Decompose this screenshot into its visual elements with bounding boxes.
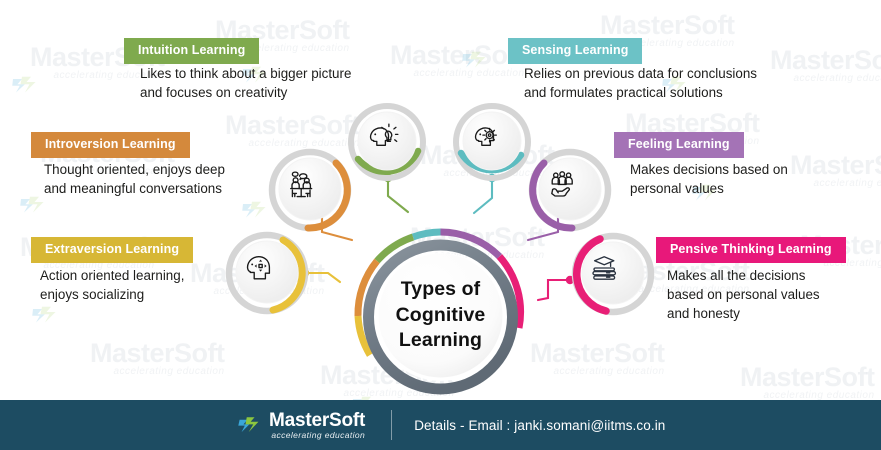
desc-extraversion: Action oriented learning, enjoys sociali… <box>40 266 255 304</box>
watermark-logo-icon <box>30 300 60 330</box>
footer-details-email: Details - Email : janki.somani@iitms.co.… <box>414 418 665 433</box>
node-feeling[interactable] <box>528 148 612 232</box>
footer-brand: MasterSoft accelerating education <box>269 411 365 440</box>
badge-extraversion: Extraversion Learning <box>31 237 193 263</box>
infographic-canvas: MasterSoftaccelerating education MasterS… <box>0 0 881 450</box>
watermark-logo-icon <box>240 195 270 225</box>
badge-sensing: Sensing Learning <box>508 38 642 64</box>
node-pensive[interactable] <box>570 231 656 317</box>
desc-introversion: Thought oriented, enjoys deep and meanin… <box>44 160 284 198</box>
watermark-text: MasterSoftaccelerating education <box>740 362 875 401</box>
badge-intuition: Intuition Learning <box>124 38 259 64</box>
footer-divider <box>391 410 392 440</box>
badge-feeling: Feeling Learning <box>614 132 744 158</box>
connector-extraversion <box>305 273 340 282</box>
connector-sensing <box>474 178 492 213</box>
watermark-text: MasterSoftaccelerating education <box>90 338 225 377</box>
watermark-logo-icon <box>460 45 490 75</box>
desc-feeling: Makes decisions based on personal values <box>630 160 855 198</box>
footer-brand-text: MasterSoft <box>269 410 365 431</box>
desc-pensive: Makes all the decisions based on persona… <box>667 266 877 323</box>
footer-tagline: accelerating education <box>269 431 365 440</box>
footer-bar: MasterSoft accelerating education Detail… <box>0 400 881 450</box>
desc-sensing: Relies on previous data for conclusions … <box>524 64 814 102</box>
badge-pensive: Pensive Thinking Learning <box>656 237 846 263</box>
connector-intuition <box>388 178 408 212</box>
mastersoft-logo-icon <box>237 412 263 438</box>
connector-pensive <box>538 280 570 300</box>
footer-logo: MasterSoft accelerating education <box>237 411 365 440</box>
node-sensing[interactable] <box>453 103 531 181</box>
desc-intuition: Likes to think about a bigger picture an… <box>140 64 415 102</box>
center-circle-graphic <box>353 228 528 403</box>
node-intuition[interactable] <box>348 103 426 181</box>
watermark-text: MasterSoftaccelerating education <box>530 338 665 377</box>
watermark-tagline: accelerating education <box>530 366 665 377</box>
watermark-tagline: accelerating education <box>90 366 225 377</box>
watermark-text: MasterSoftaccelerating education <box>225 110 360 149</box>
center-inner-disc <box>379 254 503 378</box>
outer-arc-sensing <box>413 232 441 237</box>
node-disc <box>582 242 644 304</box>
badge-introversion: Introversion Learning <box>31 132 190 158</box>
watermark-logo-icon <box>10 70 40 100</box>
center-circle: Types of Cognitive Learning <box>353 228 528 403</box>
